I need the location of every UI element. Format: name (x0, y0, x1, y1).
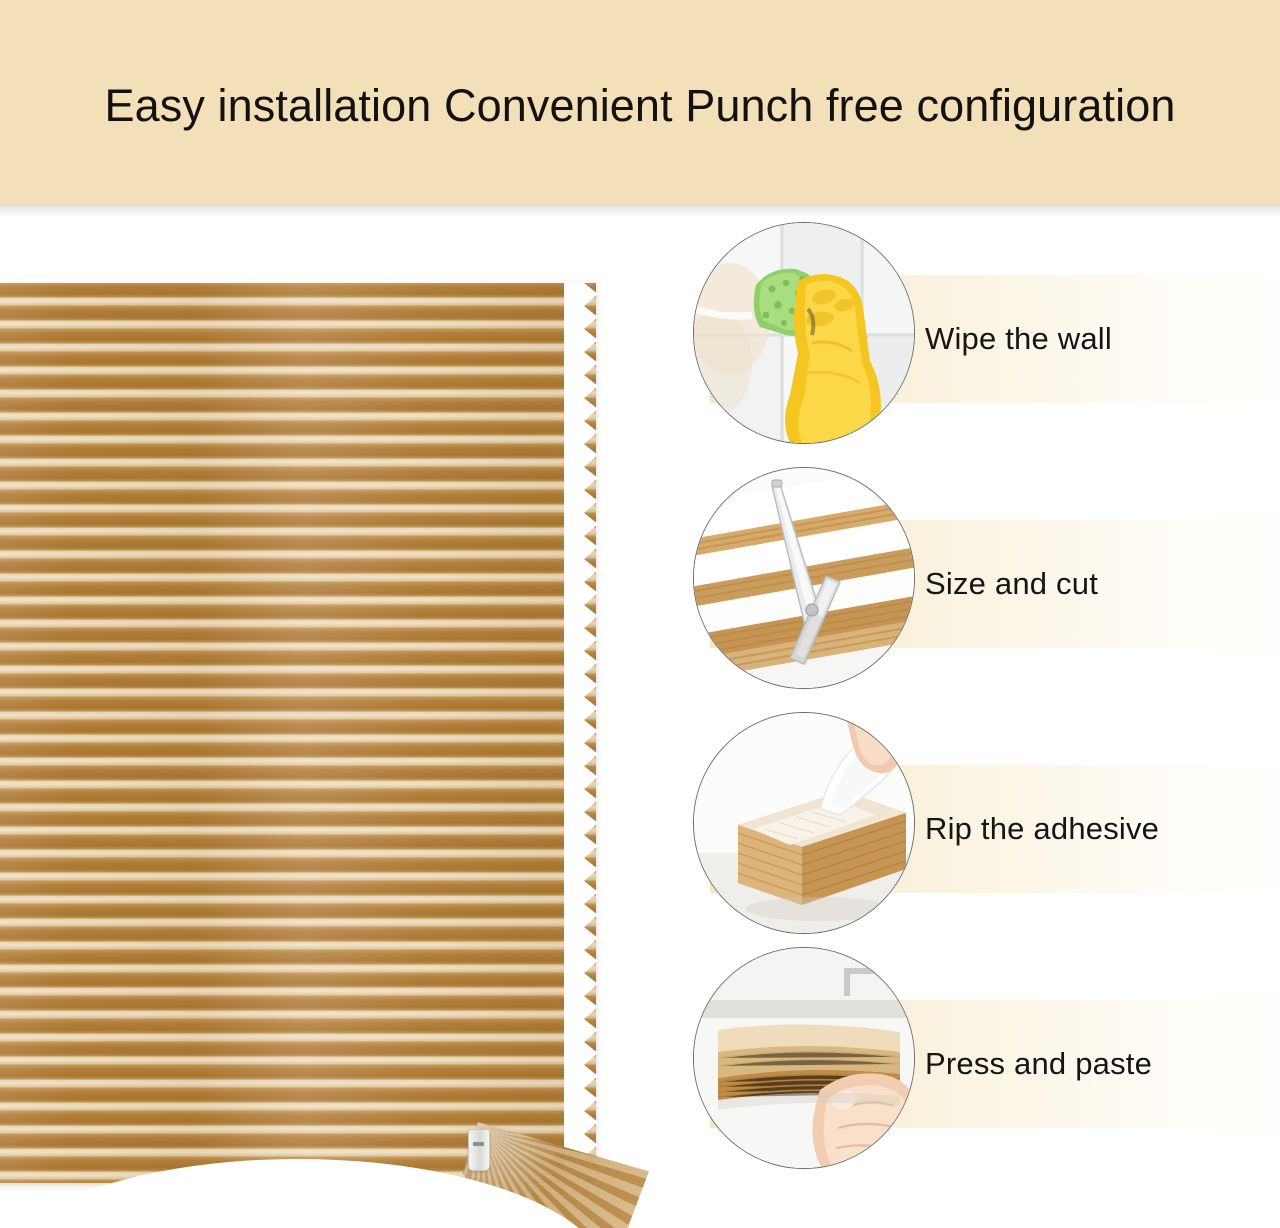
step-photo-press-and-paste (693, 947, 915, 1169)
blind-sheen-overlay (0, 283, 596, 1183)
product-photo-pleated-blind (0, 217, 660, 1228)
step-photo-size-and-cut (693, 467, 915, 689)
blind-fabric (0, 283, 596, 1183)
installation-steps-list: Wipe the wall (660, 217, 1280, 1228)
step-label: Size and cut (925, 520, 1280, 648)
step-photo-wipe-the-wall (693, 222, 915, 444)
blind-pleat-sawtooth-edge (564, 283, 598, 1183)
step-item: Rip the adhesive (660, 707, 1280, 952)
step-label: Rip the adhesive (925, 765, 1280, 893)
step-item: Size and cut (660, 462, 1280, 707)
page-title: Easy installation Convenient Punch free … (0, 0, 1280, 203)
step-photo-rip-the-adhesive (693, 712, 915, 934)
header-drop-shadow (0, 203, 1280, 217)
step-item: Wipe the wall (660, 217, 1280, 462)
step-label: Wipe the wall (925, 275, 1280, 403)
step-label: Press and paste (925, 1000, 1280, 1128)
blind-mounting-clip (468, 1129, 490, 1171)
step-item: Press and paste (660, 942, 1280, 1187)
